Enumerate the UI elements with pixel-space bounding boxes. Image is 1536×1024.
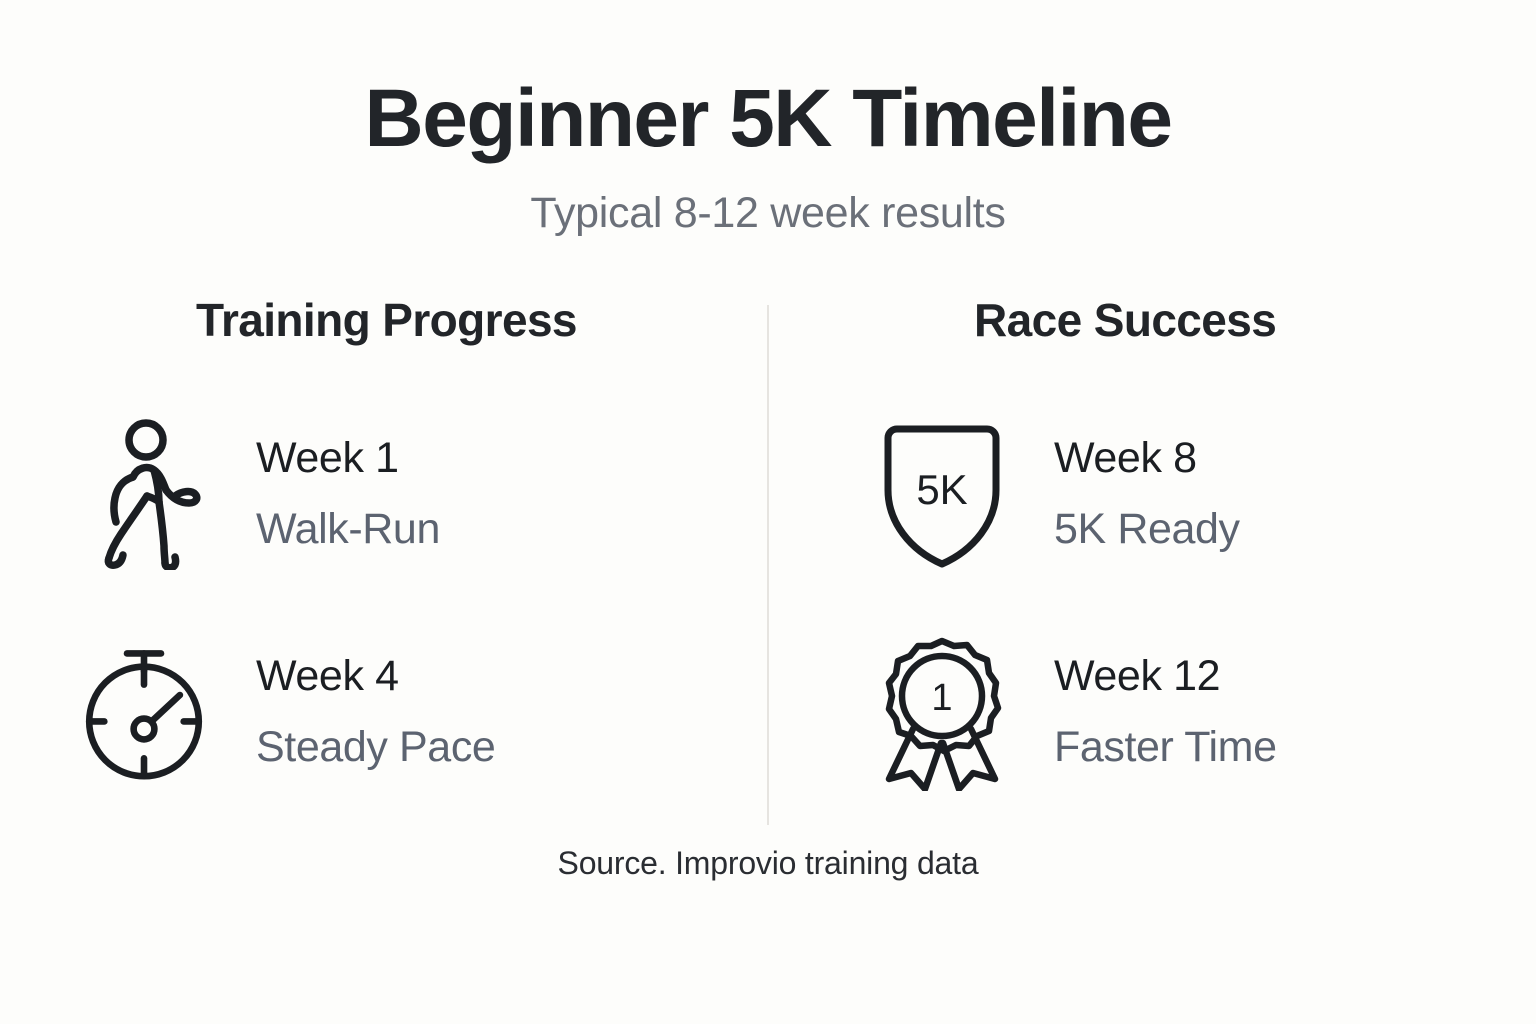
list-item[interactable]: Week 1 Walk-Run <box>76 419 495 569</box>
column-heading-race-success: Race Success <box>974 297 1276 343</box>
walking-person-icon <box>76 419 212 569</box>
source-note: Source. Improvio training data <box>558 845 979 881</box>
columns-container: Training Progress <box>68 297 1468 787</box>
list-item[interactable]: 1 Week 12 Faster Time <box>874 637 1277 787</box>
list-item[interactable]: Week 4 Steady Pace <box>76 637 495 787</box>
item-primary-label: Week 1 <box>256 437 440 480</box>
items-list-race-success: 5K Week 8 5K Ready <box>874 419 1277 787</box>
infographic-poster: Beginner 5K Timeline Typical 8-12 week r… <box>0 0 1536 1024</box>
page-subtitle: Typical 8-12 week results <box>0 192 1536 235</box>
footer: Source. Improvio training data <box>0 845 1536 882</box>
item-text: Week 12 Faster Time <box>1054 655 1277 769</box>
stopwatch-icon <box>76 637 212 787</box>
item-secondary-label: Walk-Run <box>256 508 440 551</box>
item-text: Week 4 Steady Pace <box>256 655 495 769</box>
award-rosette-icon: 1 <box>874 637 1010 787</box>
item-secondary-label: Steady Pace <box>256 726 495 769</box>
item-primary-label: Week 8 <box>1054 437 1240 480</box>
header: Beginner 5K Timeline Typical 8-12 week r… <box>0 0 1536 235</box>
column-divider <box>767 305 769 825</box>
list-item[interactable]: 5K Week 8 5K Ready <box>874 419 1277 569</box>
item-primary-label: Week 12 <box>1054 655 1277 698</box>
item-secondary-label: Faster Time <box>1054 726 1277 769</box>
column-heading-training-progress: Training Progress <box>196 297 577 343</box>
medal-label: 1 <box>931 677 952 719</box>
column-training-progress: Training Progress <box>68 297 768 787</box>
item-text: Week 1 Walk-Run <box>256 437 440 551</box>
page-title: Beginner 5K Timeline <box>0 78 1536 160</box>
item-secondary-label: 5K Ready <box>1054 508 1240 551</box>
item-text: Week 8 5K Ready <box>1054 437 1240 551</box>
item-primary-label: Week 4 <box>256 655 495 698</box>
shield-label: 5K <box>916 466 967 513</box>
items-list-training-progress: Week 1 Walk-Run <box>76 419 495 787</box>
column-race-success: Race Success 5K Week 8 5K Ready <box>768 297 1468 787</box>
shield-5k-icon: 5K <box>874 419 1010 569</box>
